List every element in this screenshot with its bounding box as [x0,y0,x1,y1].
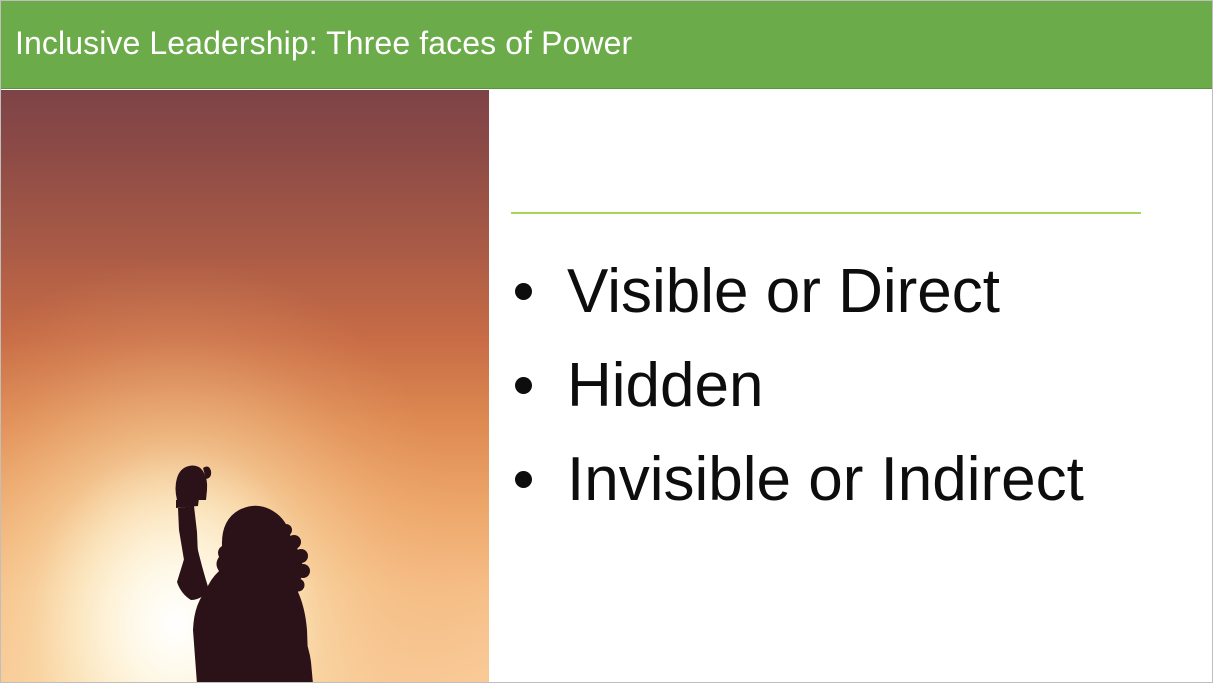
bullet-list: Visible or Direct Hidden Invisible or In… [511,245,1211,527]
slide-header-band: Inclusive Leadership: Three faces of Pow… [1,1,1213,89]
list-item: Hidden [511,339,1211,433]
bullet-label: Visible or Direct [567,245,1000,339]
bullet-dot-icon [515,471,532,488]
slide-content-panel: Visible or Direct Hidden Invisible or In… [490,90,1213,683]
bullet-label: Hidden [567,339,763,433]
list-item: Visible or Direct [511,245,1211,339]
bullet-dot-icon [515,283,532,300]
list-item: Invisible or Indirect [511,433,1211,527]
bullet-dot-icon [515,377,532,394]
sunset-fist-silhouette-illustration [1,90,489,683]
accent-divider-rule [511,212,1141,214]
slide-photo [1,90,489,683]
presentation-slide: Inclusive Leadership: Three faces of Pow… [0,0,1213,683]
bullet-label: Invisible or Indirect [567,433,1084,527]
slide-title: Inclusive Leadership: Three faces of Pow… [15,23,632,63]
